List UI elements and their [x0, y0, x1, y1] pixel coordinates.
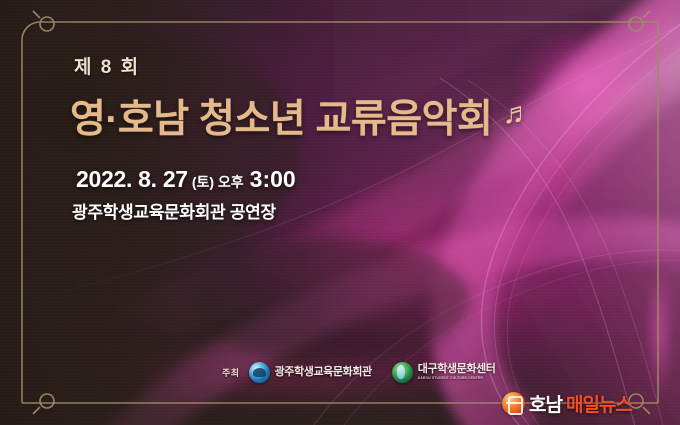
sponsor-bar: 주최 광주학생교육문화회관 대구학생문화센터 DAEGU STUDENT CUL…	[222, 362, 496, 383]
sponsor-subtitle: DAEGU STUDENT CULTURE CENTER	[418, 377, 496, 381]
watermark-text-secondary: 매일뉴스	[566, 390, 632, 417]
sponsor-item: 광주학생교육문화회관	[249, 362, 372, 383]
sponsor-text: 광주학생교육문화회관	[275, 367, 372, 379]
watermark-text-primary: 호남	[529, 390, 562, 417]
page-title: 영·호남 청소년 교류음악회	[70, 88, 492, 144]
sponsor-name: 대구학생문화센터	[418, 364, 496, 376]
news-watermark: 호남 매일뉴스	[502, 390, 632, 417]
honam-maeil-news-logo-icon	[502, 392, 525, 415]
concert-poster: 제 8 회 영·호남 청소년 교류음악회 ♬ 2022. 8. 27 (토) 오…	[0, 0, 680, 425]
host-label: 주최	[222, 366, 240, 379]
event-venue: 광주학생교육문화회관 공연장	[72, 198, 276, 223]
poster-title-row: 영·호남 청소년 교류음악회 ♬	[70, 88, 532, 144]
sponsor-item: 대구학생문화센터 DAEGU STUDENT CULTURE CENTER	[392, 362, 496, 383]
event-date: 2022. 8. 27	[76, 166, 188, 193]
event-datetime: 2022. 8. 27 (토) 오후 3:00	[76, 166, 296, 193]
event-day-part: (토) 오후	[192, 172, 244, 192]
event-time: 3:00	[250, 166, 296, 193]
gwangju-student-culture-emblem-icon	[249, 362, 270, 383]
sponsor-name: 광주학생교육문화회관	[275, 367, 372, 379]
daegu-student-culture-emblem-icon	[392, 362, 413, 383]
edition-label: 제 8 회	[74, 52, 140, 79]
music-note-icon: ♬	[502, 99, 532, 129]
sponsor-text: 대구학생문화센터 DAEGU STUDENT CULTURE CENTER	[418, 364, 496, 380]
